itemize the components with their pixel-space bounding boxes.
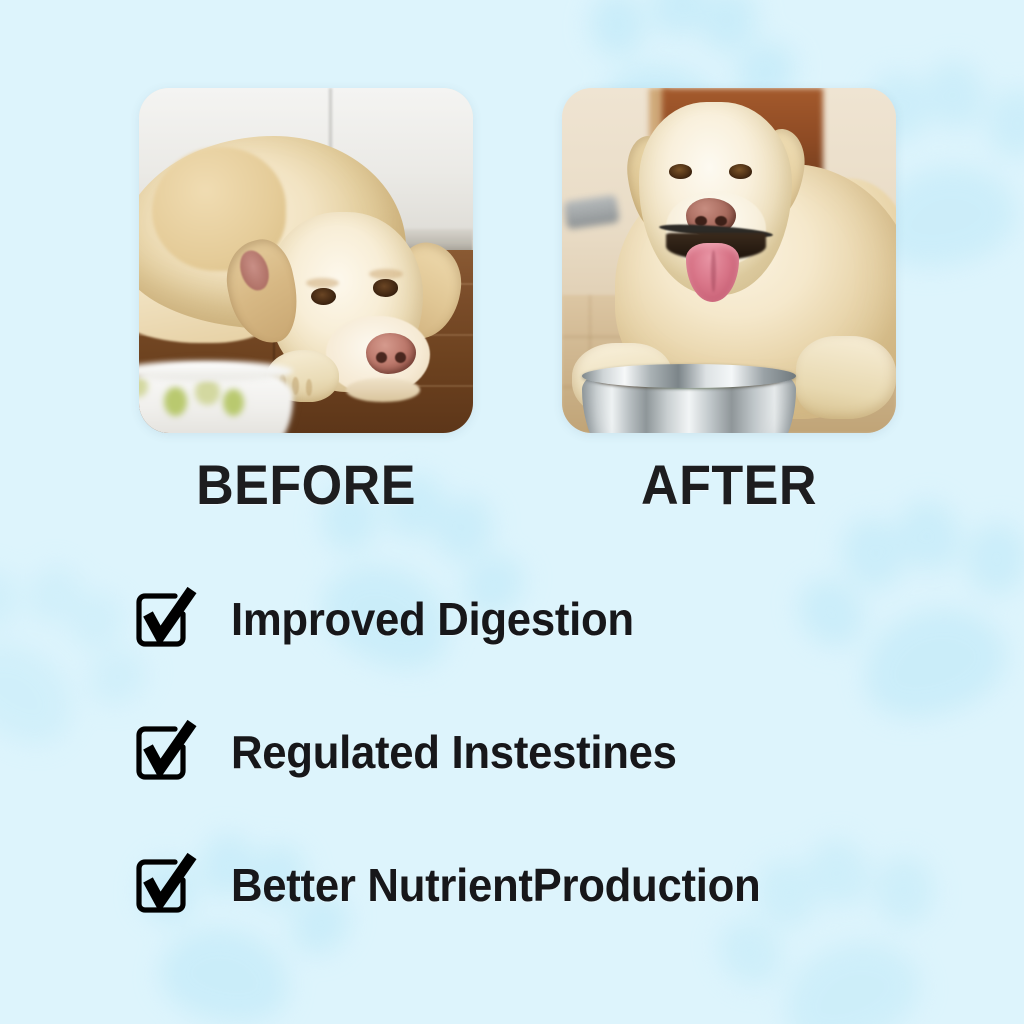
paw-toe (982, 85, 1024, 163)
benefit-label: Better NutrientProduction (231, 858, 760, 912)
dog-tongue-crease (711, 250, 716, 291)
dog-eye-right (373, 279, 398, 296)
before-photo (139, 88, 473, 433)
dog-nostril (715, 216, 727, 227)
dog-nostril (376, 352, 387, 363)
paw-toe (889, 492, 969, 579)
paw-toe (588, 0, 647, 58)
dog-toe (292, 377, 299, 395)
after-label: AFTER (574, 452, 885, 517)
dog-front-leg-right (796, 336, 896, 419)
before-after-benefits-poster: BEFORE AFTER Improved Digestion Regulate… (0, 0, 1024, 1024)
dog-toe (306, 379, 313, 396)
kibble-piece (139, 376, 148, 397)
dog-eye-right (729, 164, 752, 179)
before-label: BEFORE (151, 452, 462, 517)
paw-pad (0, 622, 93, 762)
paw-toe (918, 55, 991, 135)
benefit-item: Improved Digestion (133, 576, 993, 662)
paw-toe (0, 564, 24, 633)
checkbox-checked-icon (133, 854, 195, 916)
paw-toe (59, 581, 135, 660)
benefit-label: Regulated Instestines (231, 725, 677, 779)
paw-toe (16, 555, 92, 634)
paw-toe (643, 0, 715, 43)
kibble-piece (164, 387, 187, 416)
checkbox-checked-icon (133, 721, 195, 783)
dog-nostril (395, 352, 406, 363)
benefits-list: Improved Digestion Regulated Instestines… (133, 576, 993, 975)
paw-toe (693, 0, 765, 60)
steel-bowl-rim (582, 364, 796, 388)
before-photo-scene (139, 88, 473, 433)
dog-eye-left (669, 164, 692, 179)
benefit-item: Regulated Instestines (133, 709, 993, 795)
after-photo-scene (562, 88, 896, 433)
checkbox-checked-icon (133, 588, 195, 650)
kibble-piece (195, 379, 219, 404)
benefit-label: Improved Digestion (231, 592, 634, 646)
benefit-item: Better NutrientProduction (133, 842, 993, 928)
dog-chin (346, 378, 419, 402)
kibble-piece (223, 389, 244, 416)
after-photo (562, 88, 896, 433)
